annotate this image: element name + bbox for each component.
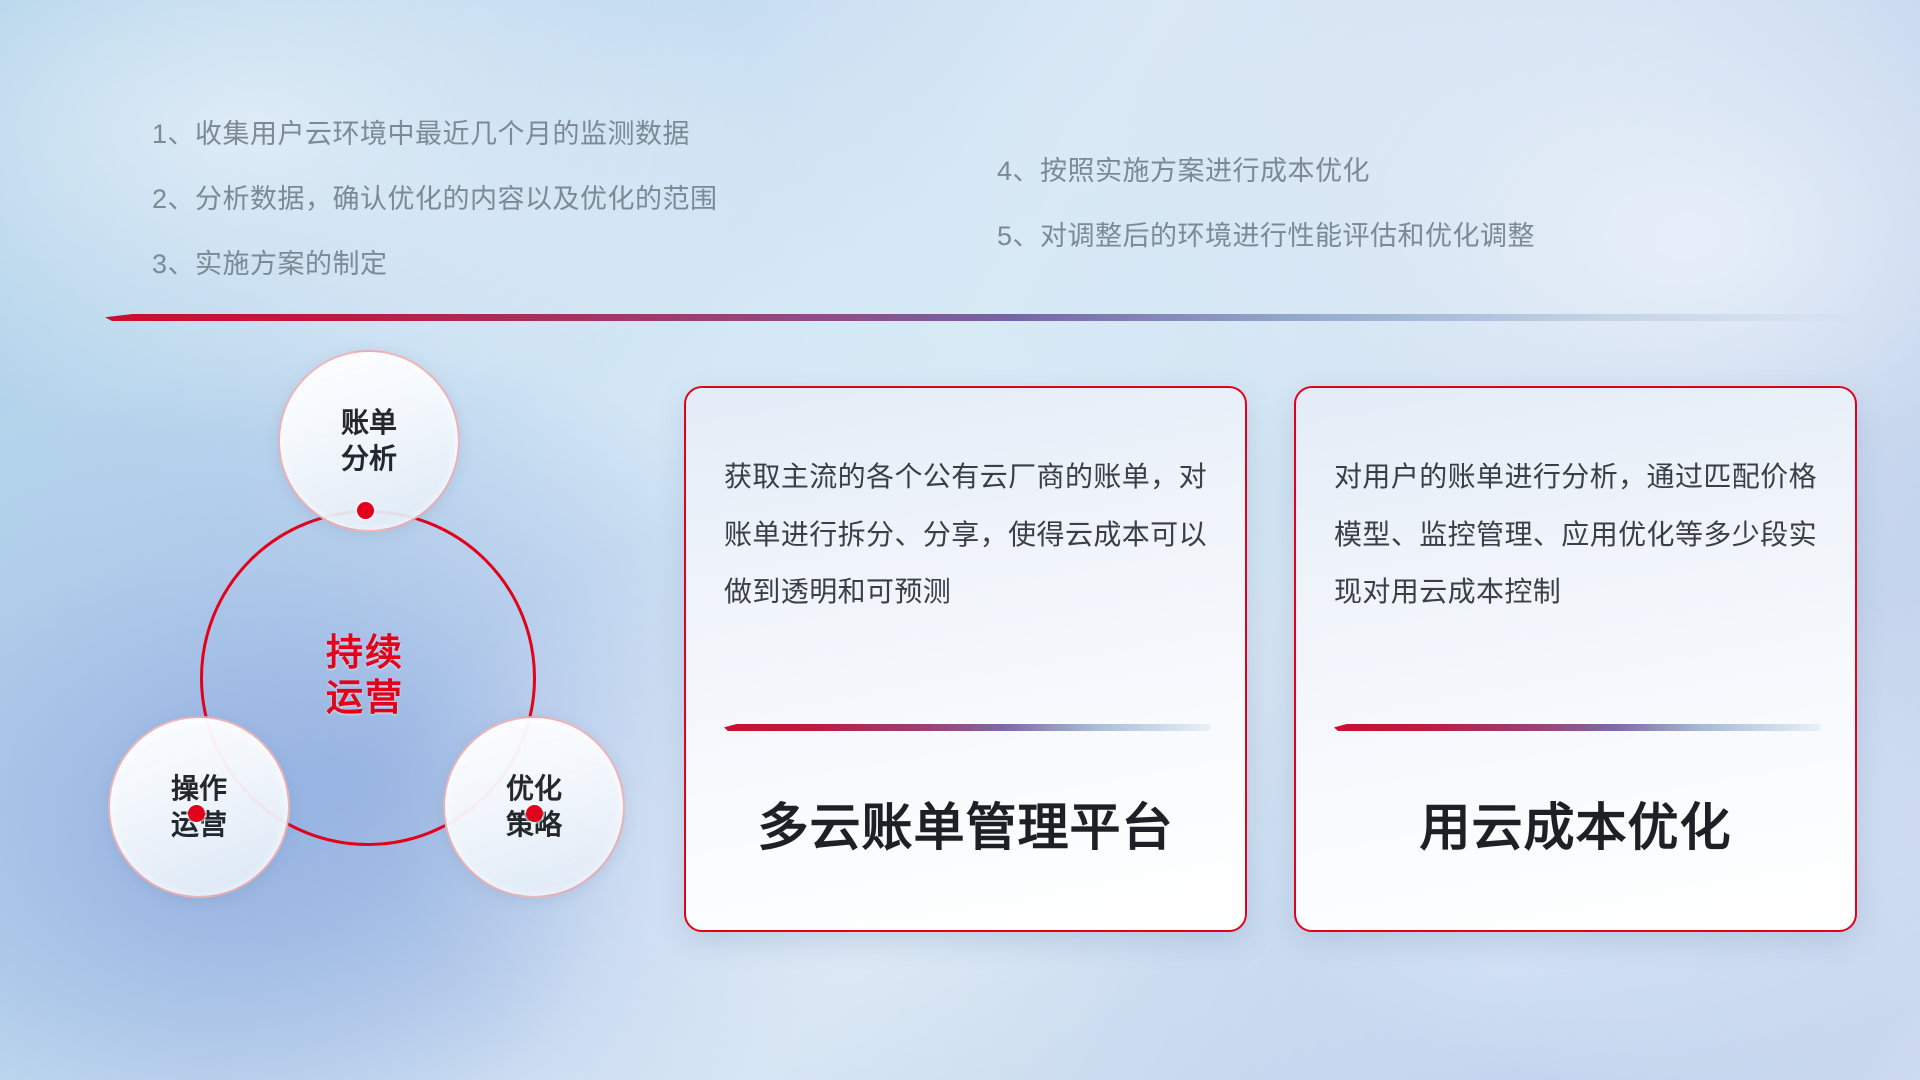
venn-center-label: 持续 运营 [200,510,530,840]
bullet-item-1: 1、收集用户云环境中最近几个月的监测数据 [152,118,718,152]
bullet-list-right: 4、按照实施方案进行成本优化 5、对调整后的环境进行性能评估和优化调整 [997,155,1535,285]
slide-canvas: 1、收集用户云环境中最近几个月的监测数据 2、分析数据，确认优化的内容以及优化的… [0,0,1920,1080]
venn-node-dot-left [188,805,205,822]
bullet-item-3: 3、实施方案的制定 [152,248,718,282]
venn-node-dot-right [526,805,543,822]
info-card-cloud-cost-optimization[interactable]: 对用户的账单进行分析，通过匹配价格模型、监控管理、应用优化等多少段实现对用云成本… [1294,386,1857,932]
venn-center-label-line-2: 运营 [326,675,404,720]
venn-diagram: 持续 运营 账单 分析 操作 运营 优化 策略 [95,350,625,940]
info-card-1-title: 多云账单管理平台 [686,786,1245,860]
bullet-item-4: 4、按照实施方案进行成本优化 [997,155,1535,189]
info-card-2-title: 用云成本优化 [1296,786,1855,860]
venn-node-dot-top [357,502,374,519]
info-card-1-divider [724,724,1211,731]
venn-bubble-top-line-2: 分析 [341,441,397,477]
info-card-2-divider [1334,724,1821,731]
bullet-item-2: 2、分析数据，确认优化的内容以及优化的范围 [152,183,718,217]
info-card-multi-cloud-billing[interactable]: 获取主流的各个公有云厂商的账单，对账单进行拆分、分享，使得云成本可以做到透明和可… [684,386,1247,932]
venn-center-label-line-1: 持续 [326,630,404,675]
header-divider-rule [105,314,1845,321]
bullet-list-left: 1、收集用户云环境中最近几个月的监测数据 2、分析数据，确认优化的内容以及优化的… [152,118,718,312]
bullet-item-5: 5、对调整后的环境进行性能评估和优化调整 [997,220,1535,254]
info-card-2-body: 对用户的账单进行分析，通过匹配价格模型、监控管理、应用优化等多少段实现对用云成本… [1334,448,1817,621]
info-card-1-body: 获取主流的各个公有云厂商的账单，对账单进行拆分、分享，使得云成本可以做到透明和可… [724,448,1207,621]
venn-bubble-top-line-1: 账单 [341,405,397,441]
